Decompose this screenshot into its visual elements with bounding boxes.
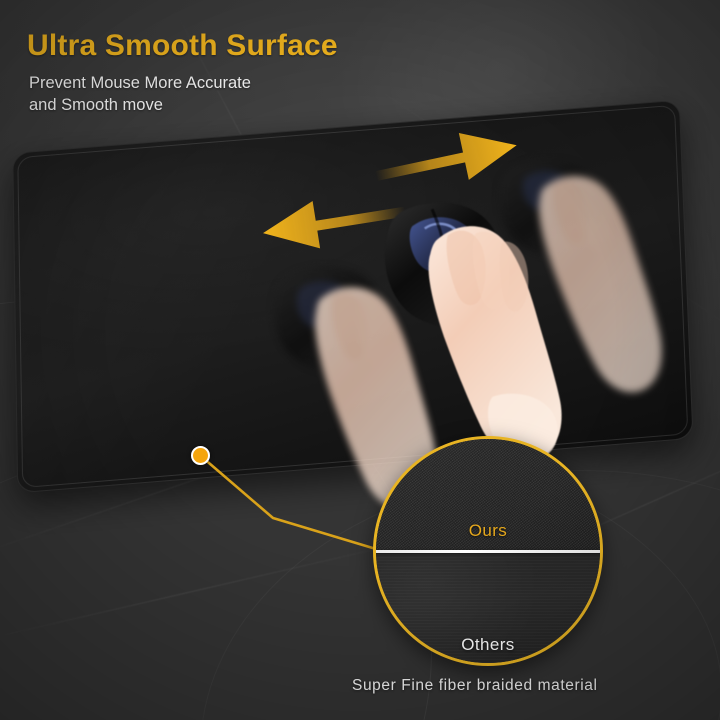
vignette-overlay (0, 0, 720, 720)
product-feature-banner: Ours Others Ultra Smooth Surface Prevent… (0, 0, 720, 720)
